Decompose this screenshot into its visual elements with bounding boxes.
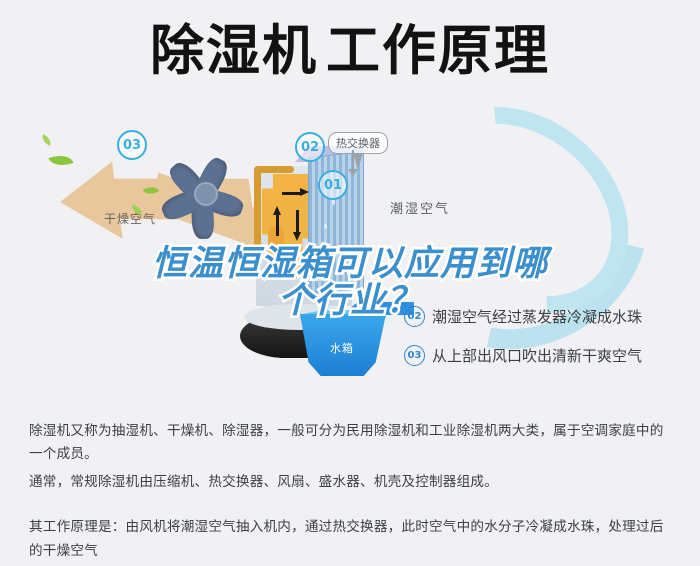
body-paragraph-2: 通常，常规除湿机由压缩机、热交换器、风扇、盛水器、机壳及控制器组成。 [29,471,677,494]
flow-arrow-right-icon [300,188,309,196]
caption-03: 03 从上部出风口吹出清新干爽空气 [404,345,642,366]
leaf-icon [40,134,53,146]
badge-01: 01 [318,170,348,200]
body-paragraph-3: 其工作原理是：由风机将潮湿空气抽入机内，通过热交换器，此时空气中的水分子冷凝成水… [29,516,677,563]
flow-arrow-down-icon [293,232,301,241]
overlay-headline-line1: 恒温恒湿箱可以应用到哪 [0,246,700,283]
body-text: 除湿机又称为抽湿机、干燥机、除湿器，一般可分为民用除湿机和工业除湿机两大类，属于… [29,420,677,566]
body-paragraph-1: 除湿机又称为抽湿机、干燥机、除湿器，一般可分为民用除湿机和工业除湿机两大类，属于… [29,420,677,467]
flow-arrow-stem [296,210,299,232]
caption-03-text: 从上部出风口吹出清新干爽空气 [432,345,642,366]
badge-02: 02 [295,132,325,162]
overlay-headline: 恒温恒湿箱可以应用到哪 个行业？ [0,246,700,320]
caption-03-number: 03 [404,345,425,366]
heat-exchanger-callout-tail [352,150,354,170]
dry-air-label: 干燥空气 [104,210,156,227]
infographic-page: 除湿机工作原理 干燥空气 [0,0,700,566]
page-title-part2: 工作原理 [326,19,550,82]
water-tank-label: 水箱 [330,340,354,356]
page-title: 除湿机工作原理 [0,22,700,80]
leaf-icon [48,151,73,171]
flow-arrow-stem [282,192,300,195]
refrigerant-pipe [254,166,294,173]
fan-icon [160,150,256,242]
page-title-part1: 除湿机 [150,19,318,82]
badge-03: 03 [117,130,147,160]
flow-arrow-stem [276,214,279,236]
humid-air-label: 潮湿空气 [390,198,450,217]
heat-exchanger-callout: 热交换器 [328,132,388,154]
flow-arrow-up-icon [273,206,281,215]
overlay-headline-line2: 个行业？ [0,283,700,320]
refrigerant-pipe [254,168,261,254]
